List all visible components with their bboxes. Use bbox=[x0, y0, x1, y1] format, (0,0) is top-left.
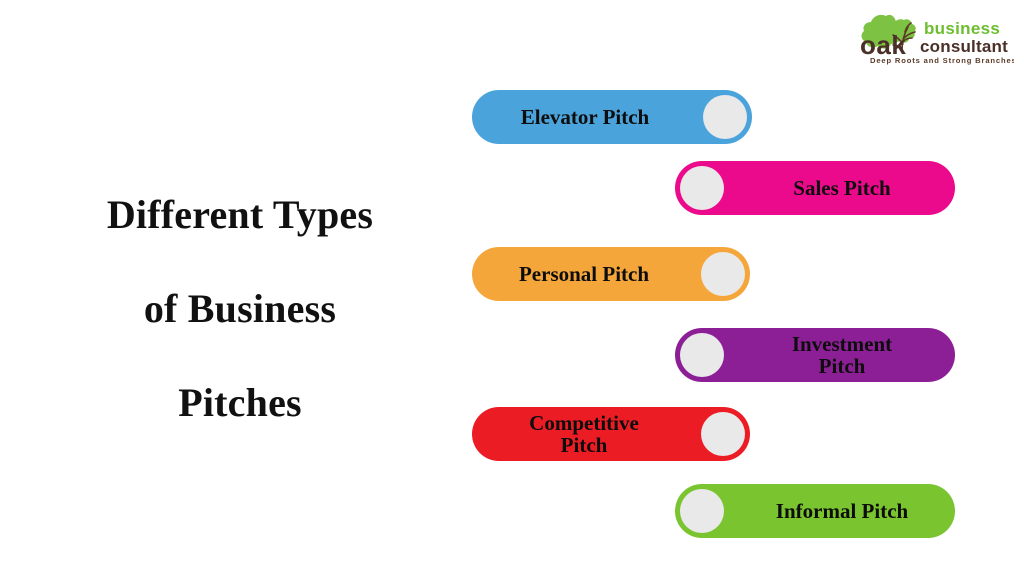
pill-knob-circle bbox=[680, 166, 724, 210]
pitch-pill-sales[interactable]: Sales Pitch bbox=[675, 161, 955, 215]
pitch-pill-label: Personal Pitch bbox=[472, 263, 696, 285]
pitch-pill-label: Sales Pitch bbox=[729, 177, 955, 199]
pill-knob-circle bbox=[701, 252, 745, 296]
pill-knob-circle bbox=[701, 412, 745, 456]
pitch-pill-elevator[interactable]: Elevator Pitch bbox=[472, 90, 752, 144]
pitch-pill-label: Investment Pitch bbox=[729, 333, 955, 378]
pitch-pill-label: Informal Pitch bbox=[729, 500, 955, 522]
pitch-pill-label: Competitive Pitch bbox=[472, 412, 696, 457]
pitch-pill-personal[interactable]: Personal Pitch bbox=[472, 247, 750, 301]
pill-knob-circle bbox=[703, 95, 747, 139]
pill-knob-circle bbox=[680, 333, 724, 377]
pitch-pill-label: Elevator Pitch bbox=[472, 106, 698, 128]
infographic-canvas: oak business consultant Deep Roots and S… bbox=[0, 0, 1024, 576]
pitch-type-list: Elevator Pitch Sales Pitch Personal Pitc… bbox=[0, 0, 1024, 576]
pill-knob-circle bbox=[680, 489, 724, 533]
pitch-pill-competitive[interactable]: Competitive Pitch bbox=[472, 407, 750, 461]
pitch-pill-investment[interactable]: Investment Pitch bbox=[675, 328, 955, 382]
pitch-pill-informal[interactable]: Informal Pitch bbox=[675, 484, 955, 538]
